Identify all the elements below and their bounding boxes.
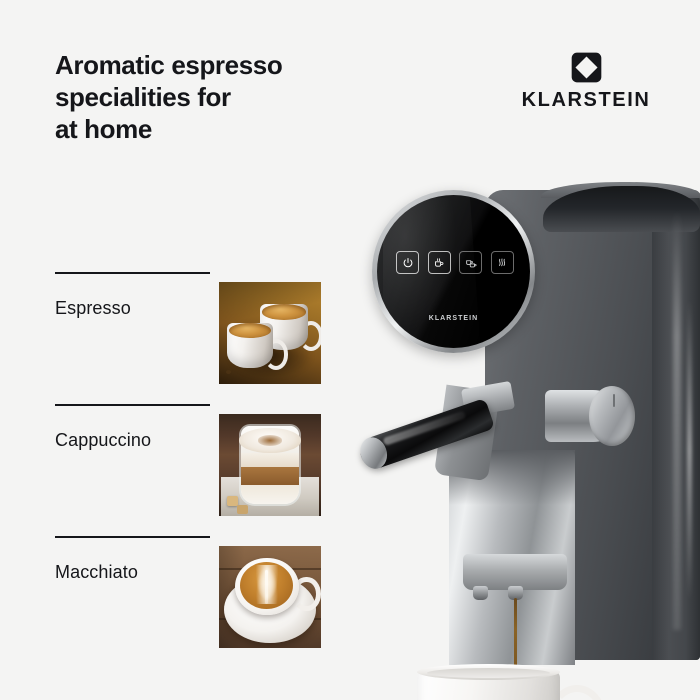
control-panel: KLARSTEIN: [377, 195, 530, 348]
cup-rim-inner: [427, 668, 550, 678]
speciality-label-macchiato: Macchiato: [55, 562, 138, 583]
brand-logo: KLARSTEIN: [521, 52, 651, 114]
divider: [55, 272, 210, 274]
double-cup-icon[interactable]: [459, 251, 482, 274]
espresso-machine-product-photo: KLARSTEIN: [355, 150, 700, 700]
housing-highlight: [673, 210, 681, 630]
product-marketing-banner: Aromatic espresso specialities for at ho…: [0, 0, 700, 700]
speciality-label-cappuccino: Cappuccino: [55, 430, 151, 451]
steam-control-knob[interactable]: [589, 386, 635, 446]
speciality-label-espresso: Espresso: [55, 298, 131, 319]
two-espresso-cups-photo: [219, 282, 321, 384]
spout-left: [473, 586, 488, 600]
latte-art-macchiato-photo: [219, 546, 321, 648]
klarstein-diamond-logo-icon: [571, 52, 602, 83]
brand-wordmark: KLARSTEIN: [522, 90, 651, 110]
list-item: Espresso: [55, 272, 321, 374]
single-cup-icon[interactable]: [428, 251, 451, 274]
knob-indicator-mark: [613, 394, 615, 407]
dial-brand-label: KLARSTEIN: [377, 315, 530, 322]
divider: [55, 536, 210, 538]
steam-icon[interactable]: [491, 251, 514, 274]
list-item: Cappuccino: [55, 404, 321, 506]
group-head: [463, 554, 567, 590]
divider: [55, 404, 210, 406]
housing-edge-shine: [687, 300, 692, 600]
layered-cappuccino-glass-photo: [219, 414, 321, 516]
touch-button-row: [396, 251, 514, 274]
list-item: Macchiato: [55, 536, 321, 638]
power-icon[interactable]: [396, 251, 419, 274]
page-title: Aromatic espresso specialities for at ho…: [55, 50, 385, 146]
portafilter-highlight: [382, 410, 466, 446]
